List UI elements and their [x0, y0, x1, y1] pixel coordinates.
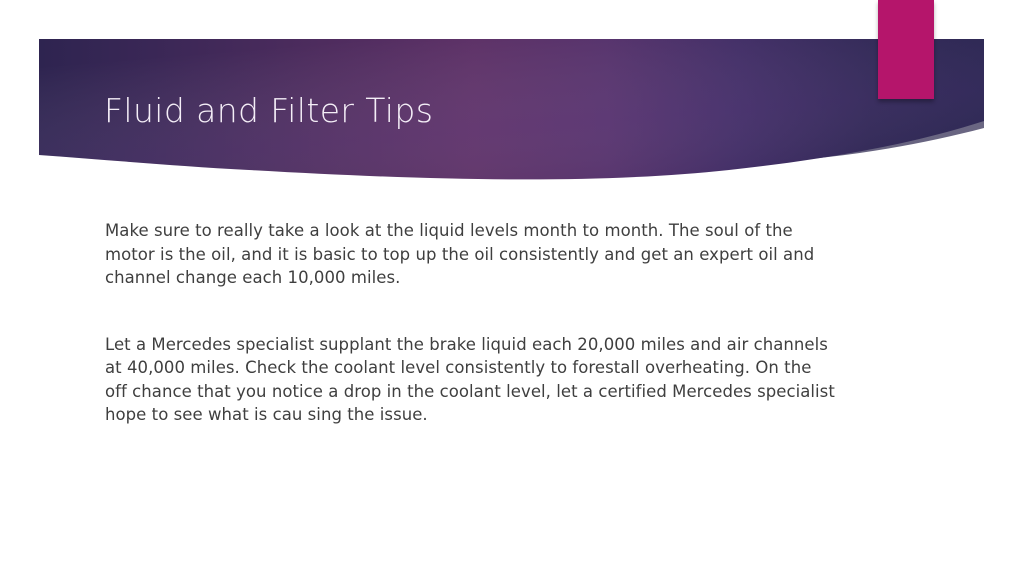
slide-title: Fluid and Filter Tips — [104, 89, 433, 133]
slide: Fluid and Filter Tips Make sure to reall… — [0, 0, 1024, 576]
magenta-accent-bar — [878, 0, 934, 99]
body-paragraph-2: Let a Mercedes specialist supplant the b… — [105, 333, 835, 427]
body-paragraph-1: Make sure to really take a look at the l… — [105, 219, 835, 290]
slide-body: Make sure to really take a look at the l… — [105, 219, 835, 427]
